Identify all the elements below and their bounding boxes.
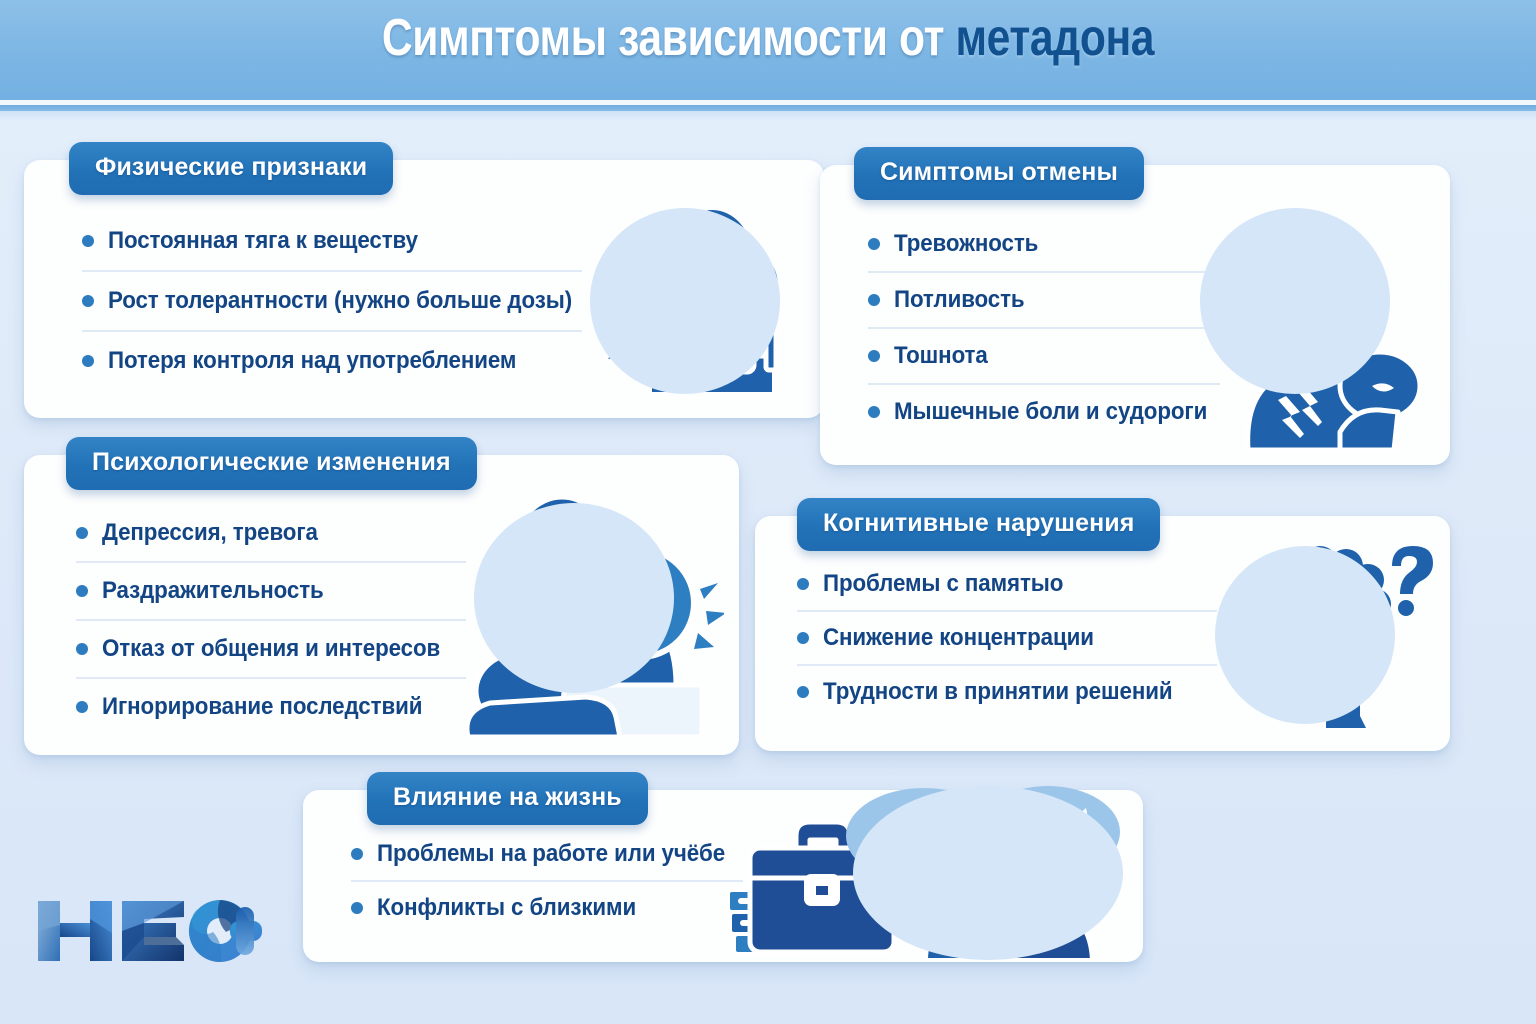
list-item-label: Депрессия, тревога [102,519,318,547]
list-item: Потливость [868,271,1220,327]
list-item: Трудности в принятии решений [797,664,1217,718]
list-withdrawal-symptoms: Тревожность Потливость Тошнота Мышечные … [868,217,1220,439]
header-divider-fade [0,111,1536,121]
list-item: Депрессия, тревога [76,505,466,561]
bullet-dot-icon [797,578,809,590]
list-item-label: Проблемы на работе или учёбе [377,840,725,868]
stressed-person-syringe-icon [576,192,806,407]
list-item: Снижение концентрации [797,610,1217,664]
page-title-accent: метадона [956,9,1155,67]
bullet-dot-icon [82,355,94,367]
icon-backdrop [474,503,674,693]
list-item-label: Раздражительность [102,577,324,605]
card-title-life-impact: Влияние на жизнь [367,772,648,825]
neo-plus-logo-glyph [34,893,264,969]
bullet-dot-icon [76,701,88,713]
briefcase-books-conflict-icon [728,780,1128,960]
card-psychological-changes: Депрессия, тревога Раздражительность Отк… [24,455,739,755]
list-item-label: Отказ от общения и интересов [102,635,440,663]
list-cognitive-impairment: Проблемы с памятыо Снижение концентрации… [797,558,1217,718]
bullet-dot-icon [797,632,809,644]
list-item: Рост толерантности (нужно больше дозы) [82,270,582,330]
header-band: Симптомы зависимости от метадона [0,0,1536,100]
bullet-dot-icon [82,235,94,247]
card-cognitive-impairment: Проблемы с памятыо Снижение концентрации… [755,516,1450,751]
icon-backdrop [1215,546,1395,724]
list-item-label: Игнорирование последствий [102,693,422,721]
list-item: Конфликты с близкими [351,880,743,934]
card-title-cognitive-impairment: Когнитивные нарушения [797,498,1160,551]
list-item: Проблемы с памятыо [797,558,1217,610]
list-item-label: Потеря контроля над употреблением [108,347,516,375]
bullet-dot-icon [868,350,880,362]
bullet-dot-icon [76,585,88,597]
card-title-physical-signs: Физические признаки [69,142,393,195]
card-life-impact: Проблемы на работе или учёбе Конфликты с… [303,790,1143,962]
bullet-dot-icon [76,643,88,655]
card-withdrawal-symptoms: Тревожность Потливость Тошнота Мышечные … [820,165,1450,465]
list-item-label: Тревожность [894,230,1038,258]
bullet-dot-icon [82,295,94,307]
list-item-label: Проблемы с памятыо [823,570,1063,598]
sweating-person-cramps-icon [1190,200,1440,455]
list-item-label: Трудности в принятии решений [823,678,1172,706]
list-item: Тревожность [868,217,1220,271]
list-item: Раздражительность [76,561,466,619]
list-item: Постоянная тяга к веществу [82,212,582,270]
list-item-label: Мышечные боли и судороги [894,398,1207,426]
icon-backdrop [590,208,780,394]
list-item: Проблемы на работе или учёбе [351,828,743,880]
list-item-label: Конфликты с близкими [377,894,636,922]
list-item: Отказ от общения и интересов [76,619,466,677]
page-title: Симптомы зависимости от метадона [138,8,1398,68]
list-physical-signs: Постоянная тяга к веществу Рост толерант… [82,212,582,390]
sad-angry-faces-icon [444,485,724,737]
list-item-label: Тошнота [894,342,988,370]
bullet-dot-icon [351,902,363,914]
bullet-dot-icon [868,238,880,250]
head-brain-question-icon [1210,538,1435,733]
list-psychological-changes: Депрессия, тревога Раздражительность Отк… [76,505,466,735]
card-title-withdrawal-symptoms: Симптомы отмены [854,147,1144,200]
list-item-label: Постоянная тяга к веществу [108,227,418,255]
bullet-dot-icon [797,686,809,698]
icon-backdrop [853,786,1123,960]
list-item: Мышечные боли и судороги [868,383,1220,439]
card-title-psychological-changes: Психологические изменения [66,437,477,490]
card-physical-signs: Постоянная тяга к веществу Рост толерант… [24,160,824,418]
bullet-dot-icon [868,294,880,306]
list-item-label: Рост толерантности (нужно больше дозы) [108,287,572,315]
neo-plus-logo [34,893,264,969]
list-item: Игнорирование последствий [76,677,466,735]
bullet-dot-icon [76,527,88,539]
page-title-plain: Симптомы зависимости от [382,9,956,67]
list-item: Тошнота [868,327,1220,383]
list-item-label: Снижение концентрации [823,624,1094,652]
bullet-dot-icon [351,848,363,860]
list-item-label: Потливость [894,286,1025,314]
infographic-page: Симптомы зависимости от метадона Постоян… [0,0,1536,1024]
icon-backdrop [1200,208,1390,394]
bullet-dot-icon [868,406,880,418]
list-life-impact: Проблемы на работе или учёбе Конфликты с… [351,828,743,934]
list-item: Потеря контроля над употреблением [82,330,582,390]
